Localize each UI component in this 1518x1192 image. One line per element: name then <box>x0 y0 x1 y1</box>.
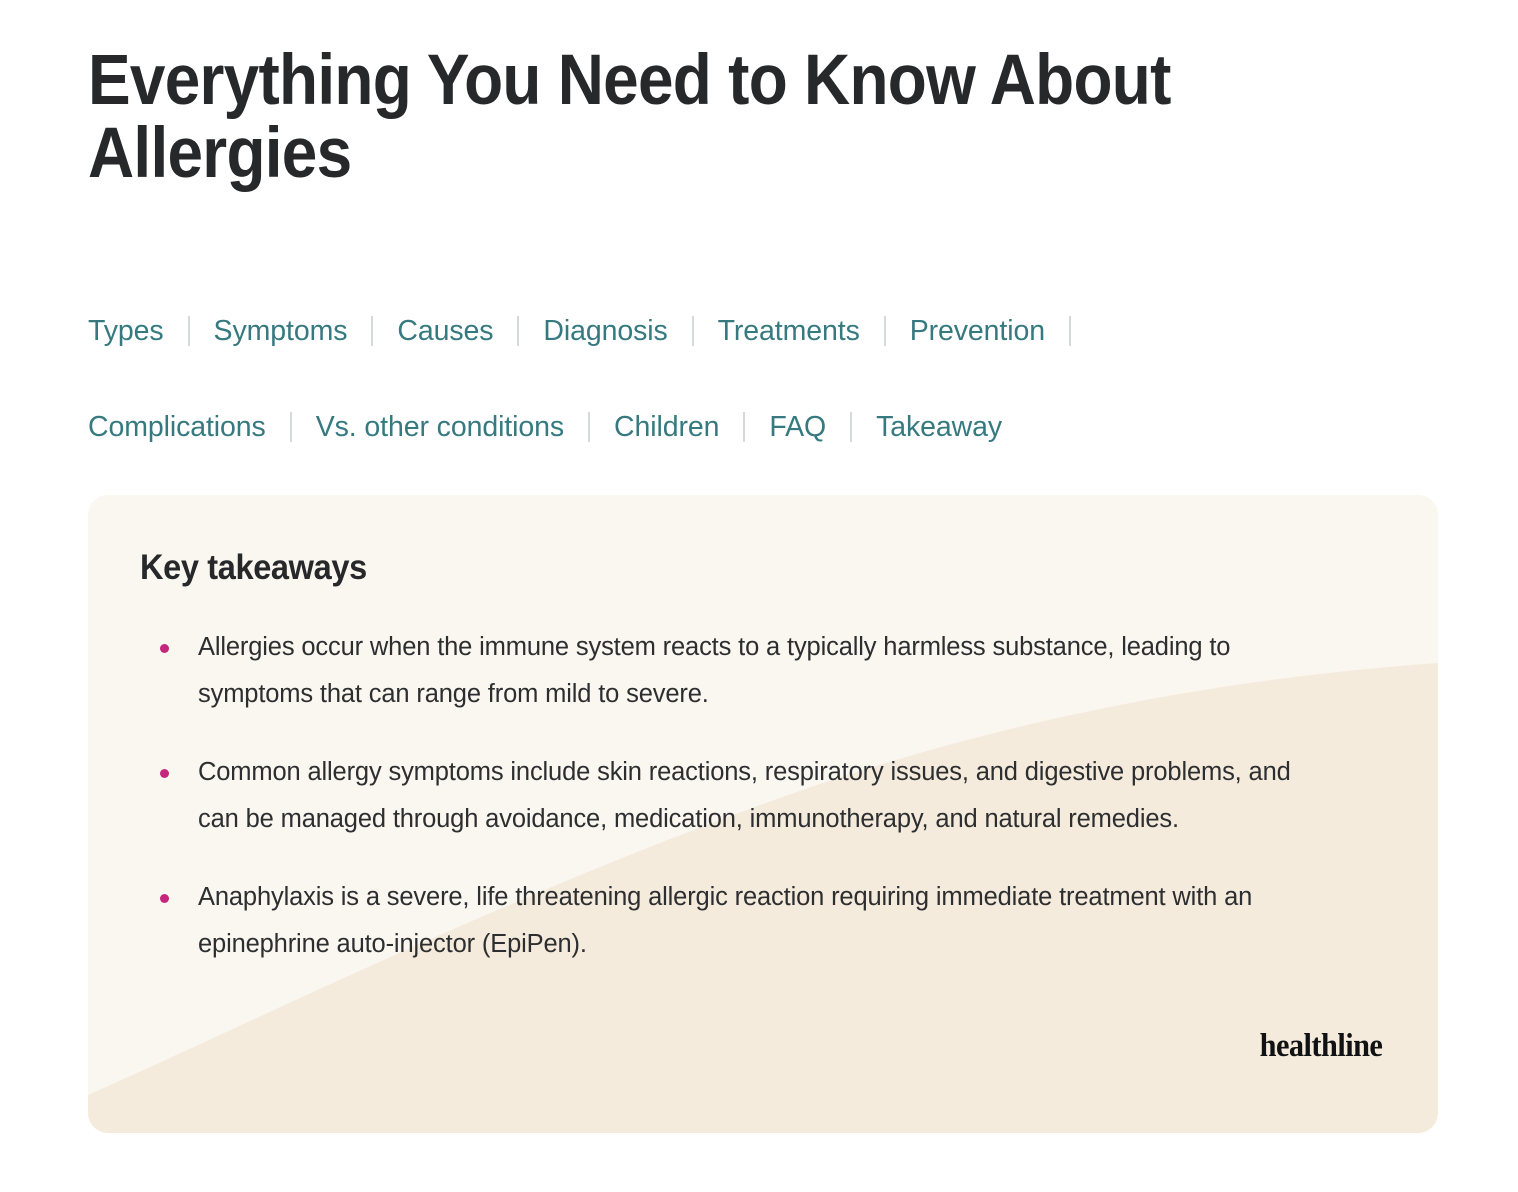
bullet-dot-icon <box>160 894 169 903</box>
jump-link-children[interactable]: Children <box>614 401 719 453</box>
key-takeaways-content: Key takeaways Allergies occur when the i… <box>88 495 1438 968</box>
jump-link-separator <box>588 412 590 442</box>
jump-link-separator <box>850 412 852 442</box>
jump-link-takeaway[interactable]: Takeaway <box>876 401 1002 453</box>
page-title: Everything You Need to Know About Allerg… <box>88 44 1267 190</box>
healthline-logo: healthline <box>1259 1030 1382 1063</box>
key-takeaway-text: Common allergy symptoms include skin rea… <box>198 758 1291 833</box>
jump-link-complications[interactable]: Complications <box>88 401 266 453</box>
key-takeaway-text: Anaphylaxis is a severe, life threatenin… <box>198 883 1252 958</box>
jump-link-separator <box>290 412 292 442</box>
jump-link-separator <box>1069 316 1071 346</box>
jump-link-nav: TypesSymptomsCausesDiagnosisTreatmentsPr… <box>88 305 1418 453</box>
key-takeaway-item: Allergies occur when the immune system r… <box>140 624 1330 718</box>
bullet-dot-icon <box>160 769 169 778</box>
bullet-dot-icon <box>160 644 169 653</box>
jump-link-types[interactable]: Types <box>88 305 164 357</box>
jump-link-separator <box>743 412 745 442</box>
key-takeaways-card: Key takeaways Allergies occur when the i… <box>88 495 1438 1133</box>
jump-link-separator <box>188 316 190 346</box>
jump-link-faq[interactable]: FAQ <box>769 401 826 453</box>
key-takeaway-item: Common allergy symptoms include skin rea… <box>140 749 1330 843</box>
jump-link-prevention[interactable]: Prevention <box>910 305 1045 357</box>
jump-link-diagnosis[interactable]: Diagnosis <box>543 305 667 357</box>
jump-link-separator <box>517 316 519 346</box>
key-takeaways-heading: Key takeaways <box>140 549 1291 588</box>
article-page: Everything You Need to Know About Allerg… <box>0 0 1518 1192</box>
key-takeaways-list: Allergies occur when the immune system r… <box>140 624 1378 968</box>
jump-link-causes[interactable]: Causes <box>397 305 493 357</box>
jump-link-separator <box>884 316 886 346</box>
jump-link-symptoms[interactable]: Symptoms <box>214 305 348 357</box>
key-takeaway-item: Anaphylaxis is a severe, life threatenin… <box>140 874 1330 968</box>
key-takeaway-text: Allergies occur when the immune system r… <box>198 633 1230 708</box>
jump-link-separator <box>371 316 373 346</box>
jump-link-separator <box>692 316 694 346</box>
jump-link-vs-other-conditions[interactable]: Vs. other conditions <box>316 401 564 453</box>
jump-link-treatments[interactable]: Treatments <box>718 305 860 357</box>
